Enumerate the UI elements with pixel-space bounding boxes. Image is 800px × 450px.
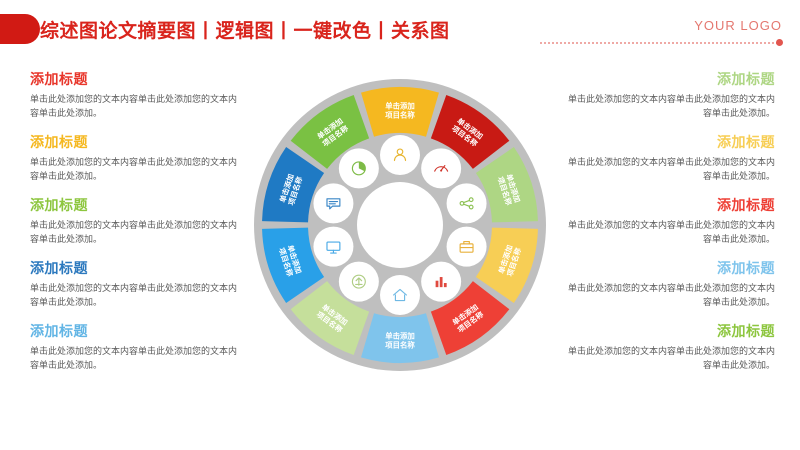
text-block-body[interactable]: 单击此处添加您的文本内容单击此处添加您的文本内容单击此处添加。 — [30, 218, 245, 246]
text-block-title[interactable]: 添加标题 — [30, 70, 245, 89]
left-text-column: 添加标题单击此处添加您的文本内容单击此处添加您的文本内容单击此处添加。添加标题单… — [30, 70, 245, 385]
text-block: 添加标题单击此处添加您的文本内容单击此处添加您的文本内容单击此处添加。 — [30, 322, 245, 372]
header-divider-dot — [776, 39, 783, 46]
text-block: 添加标题单击此处添加您的文本内容单击此处添加您的文本内容单击此处添加。 — [565, 70, 775, 120]
text-block-body[interactable]: 单击此处添加您的文本内容单击此处添加您的文本内容单击此处添加。 — [565, 281, 775, 309]
slide-header: 综述图论文摘要图丨逻辑图丨一键改色丨关系图 YOUR LOGO — [0, 0, 800, 58]
text-block: 添加标题单击此处添加您的文本内容单击此处添加您的文本内容单击此处添加。 — [30, 70, 245, 120]
svg-text:项目名称: 项目名称 — [385, 111, 415, 120]
wheel-icon-petal[interactable] — [447, 227, 487, 267]
wheel-segment-label: 单击添加项目名称 — [385, 102, 415, 120]
text-block: 添加标题单击此处添加您的文本内容单击此处添加您的文本内容单击此处添加。 — [30, 196, 245, 246]
text-block-body[interactable]: 单击此处添加您的文本内容单击此处添加您的文本内容单击此处添加。 — [30, 281, 245, 309]
wheel-center-hub — [357, 182, 443, 268]
svg-text:单击添加: 单击添加 — [385, 102, 415, 111]
right-text-column: 添加标题单击此处添加您的文本内容单击此处添加您的文本内容单击此处添加。添加标题单… — [565, 70, 775, 385]
text-block-title[interactable]: 添加标题 — [565, 133, 775, 152]
slide-root: 综述图论文摘要图丨逻辑图丨一键改色丨关系图 YOUR LOGO 添加标题单击此处… — [0, 0, 800, 450]
text-block-title[interactable]: 添加标题 — [30, 196, 245, 215]
header-divider-line — [540, 42, 780, 44]
text-block-title[interactable]: 添加标题 — [30, 259, 245, 278]
wheel-icon-petal[interactable] — [421, 148, 461, 188]
text-block-title[interactable]: 添加标题 — [565, 322, 775, 341]
text-block-body[interactable]: 单击此处添加您的文本内容单击此处添加您的文本内容单击此处添加。 — [565, 155, 775, 183]
logo-placeholder: YOUR LOGO — [694, 18, 782, 33]
text-block-body[interactable]: 单击此处添加您的文本内容单击此处添加您的文本内容单击此处添加。 — [30, 344, 245, 372]
text-block-body[interactable]: 单击此处添加您的文本内容单击此处添加您的文本内容单击此处添加。 — [30, 92, 245, 120]
page-title: 综述图论文摘要图丨逻辑图丨一键改色丨关系图 — [40, 16, 450, 43]
text-block: 添加标题单击此处添加您的文本内容单击此处添加您的文本内容单击此处添加。 — [565, 196, 775, 246]
circular-wheel-diagram: 单击添加项目名称单击添加项目名称单击添加项目名称单击添加项目名称单击添加项目名称… — [252, 77, 548, 373]
wheel-icon-petal[interactable] — [313, 227, 353, 267]
wheel-icon-petal[interactable] — [380, 275, 420, 315]
text-block-title[interactable]: 添加标题 — [565, 196, 775, 215]
wheel-icon-petal[interactable] — [447, 183, 487, 223]
header-accent-pill — [0, 14, 40, 44]
text-block-body[interactable]: 单击此处添加您的文本内容单击此处添加您的文本内容单击此处添加。 — [565, 344, 775, 372]
text-block: 添加标题单击此处添加您的文本内容单击此处添加您的文本内容单击此处添加。 — [565, 133, 775, 183]
svg-text:项目名称: 项目名称 — [385, 341, 415, 350]
wheel-svg: 单击添加项目名称单击添加项目名称单击添加项目名称单击添加项目名称单击添加项目名称… — [252, 77, 548, 373]
text-block-title[interactable]: 添加标题 — [30, 322, 245, 341]
text-block-title[interactable]: 添加标题 — [30, 133, 245, 152]
text-block-body[interactable]: 单击此处添加您的文本内容单击此处添加您的文本内容单击此处添加。 — [30, 155, 245, 183]
wheel-segment-label: 单击添加项目名称 — [385, 332, 415, 350]
text-block-body[interactable]: 单击此处添加您的文本内容单击此处添加您的文本内容单击此处添加。 — [565, 218, 775, 246]
text-block-body[interactable]: 单击此处添加您的文本内容单击此处添加您的文本内容单击此处添加。 — [565, 92, 775, 120]
text-block-title[interactable]: 添加标题 — [565, 259, 775, 278]
text-block-title[interactable]: 添加标题 — [565, 70, 775, 89]
svg-text:单击添加: 单击添加 — [385, 332, 415, 341]
text-block: 添加标题单击此处添加您的文本内容单击此处添加您的文本内容单击此处添加。 — [30, 259, 245, 309]
text-block: 添加标题单击此处添加您的文本内容单击此处添加您的文本内容单击此处添加。 — [30, 133, 245, 183]
text-block: 添加标题单击此处添加您的文本内容单击此处添加您的文本内容单击此处添加。 — [565, 322, 775, 372]
text-block: 添加标题单击此处添加您的文本内容单击此处添加您的文本内容单击此处添加。 — [565, 259, 775, 309]
